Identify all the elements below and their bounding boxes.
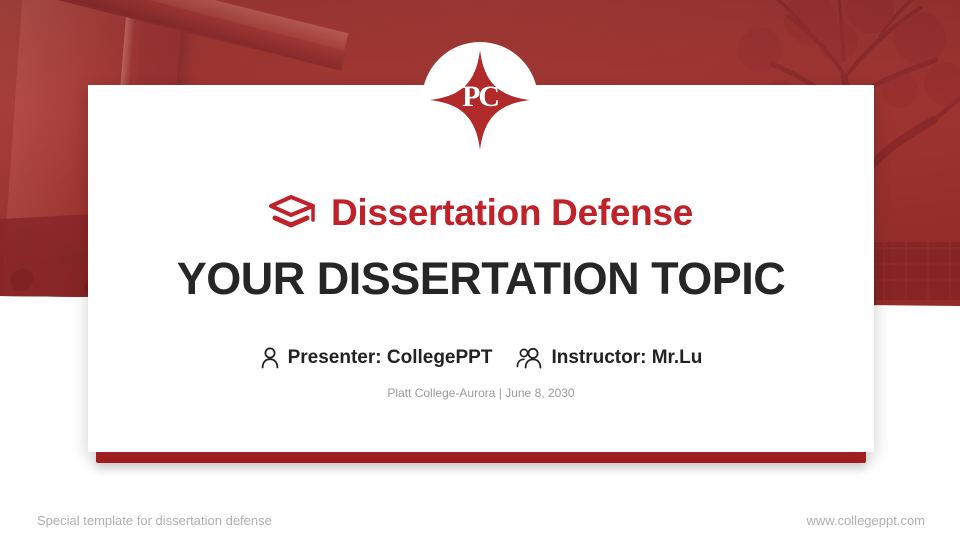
kicker-row: Dissertation Defense [88, 192, 874, 234]
presenter-label: Presenter: CollegePPT [288, 347, 493, 369]
people-row: Presenter: CollegePPT Instructor: Mr.Lu [88, 347, 874, 369]
card-content: Dissertation Defense YOUR DISSERTATION T… [88, 85, 874, 452]
slide-meta: Platt College-Aurora | June 8, 2030 [88, 386, 874, 400]
footer-right-text: www.collegeppt.com [807, 513, 926, 528]
instructor-item: Instructor: Mr.Lu [516, 347, 702, 369]
kicker-text: Dissertation Defense [331, 192, 693, 234]
footer-left-text: Special template for dissertation defens… [37, 513, 272, 528]
instructor-label: Instructor: Mr.Lu [551, 347, 702, 369]
people-group-icon [516, 347, 543, 369]
presenter-item: Presenter: CollegePPT [260, 347, 493, 369]
title-slide: PC Dissertation Defense YOUR DISSERTATIO… [0, 0, 960, 540]
graduation-cap-icon [269, 193, 317, 233]
person-icon [260, 347, 280, 369]
page-title: YOUR DISSERTATION TOPIC [88, 253, 874, 305]
